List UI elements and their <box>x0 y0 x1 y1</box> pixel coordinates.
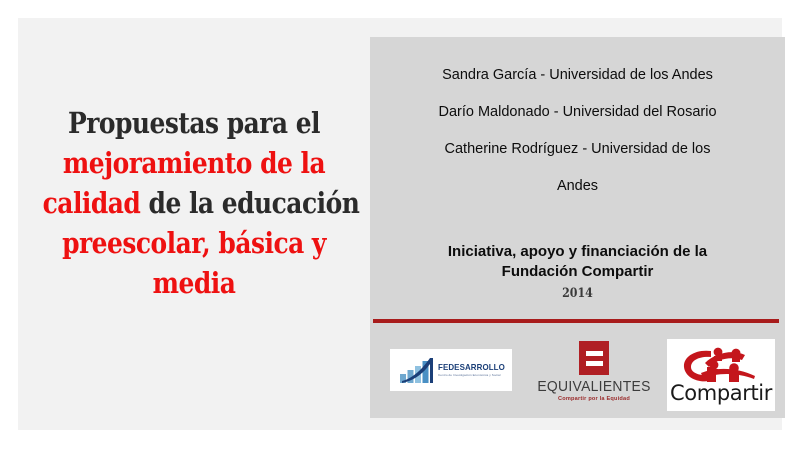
title-line-3-red: calidad <box>43 186 141 220</box>
equals-bar-bottom <box>586 361 603 366</box>
title-line-5: media <box>43 263 346 303</box>
title-line-4: preescolar, básica y <box>43 223 346 263</box>
authors-list: Sandra García - Universidad de los Andes… <box>370 57 785 205</box>
title-line-3-dark: de la educación <box>140 186 359 220</box>
equivalientes-equals-icon <box>579 341 609 375</box>
author-line: Darío Maldonado - Universidad del Rosari… <box>370 94 785 131</box>
red-divider-rule <box>373 319 779 323</box>
funding-line-1: Iniciativa, apoyo y financiación de la <box>370 242 785 262</box>
logo-row: FEDESARROLLO Centro de Investigación Eco… <box>370 337 785 415</box>
logo-fedesarrollo: FEDESARROLLO Centro de Investigación Eco… <box>390 349 512 391</box>
funding-statement: Iniciativa, apoyo y financiación de la F… <box>370 242 785 282</box>
compartir-name: Compartir <box>667 381 775 405</box>
author-line: Andes <box>370 168 785 205</box>
fedesarrollo-bars-icon <box>399 357 437 384</box>
title-line-3: calidad de la educación <box>43 183 346 223</box>
funding-line-2: Fundación Compartir <box>370 262 785 282</box>
fedesarrollo-name: FEDESARROLLO <box>438 363 508 372</box>
slide-canvas: Propuestas para el mejoramiento de la ca… <box>18 18 782 430</box>
compartir-people-icon <box>681 343 761 385</box>
slide-title: Propuestas para el mejoramiento de la ca… <box>43 103 346 303</box>
year-label: 2014 <box>401 286 754 301</box>
fedesarrollo-wordmark: FEDESARROLLO Centro de Investigación Eco… <box>438 363 510 377</box>
equivalientes-tagline: Compartir por la Equidad <box>535 396 653 402</box>
equals-bar-top <box>586 351 603 356</box>
title-line-2: mejoramiento de la <box>43 143 346 183</box>
logo-equivalientes: EQUIVALIENTES Compartir por la Equidad <box>535 341 653 413</box>
title-line-1: Propuestas para el <box>43 103 346 143</box>
author-line: Sandra García - Universidad de los Andes <box>370 57 785 94</box>
logo-compartir: Compartir <box>667 339 775 411</box>
author-line: Catherine Rodríguez - Universidad de los <box>370 131 785 168</box>
info-panel: Sandra García - Universidad de los Andes… <box>370 37 785 418</box>
fedesarrollo-tagline: Centro de Investigación Económica y Soci… <box>438 373 510 377</box>
equivalientes-name: EQUIVALIENTES <box>537 379 650 395</box>
